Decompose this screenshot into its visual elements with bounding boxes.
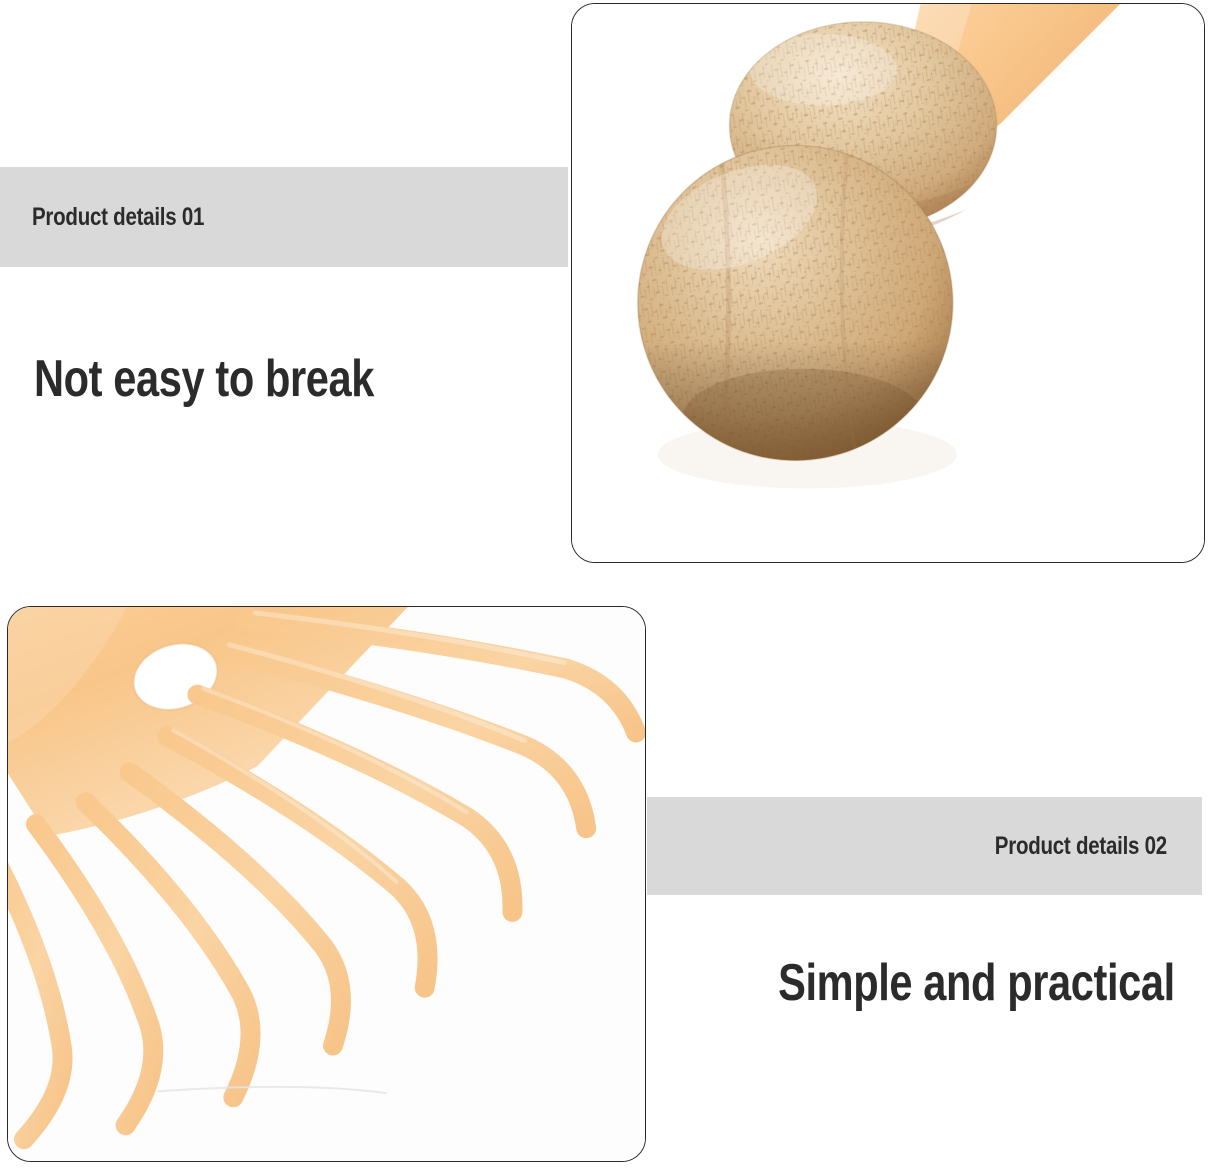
headline-simple-and-practical: Simple and practical [778,953,1175,1013]
product-photo-wooden-ball-head [571,3,1205,563]
product-detail-page: Product details 01 Not easy to break [0,0,1214,1171]
silicone-prongs-illustration [8,607,645,1161]
product-details-01-band: Product details 01 [0,167,568,267]
product-photo-silicone-prongs [7,606,646,1162]
product-details-02-band: Product details 02 [647,797,1202,895]
wooden-ball-illustration [572,4,1204,562]
headline-not-easy-to-break: Not easy to break [34,349,374,409]
product-details-02-label: Product details 02 [995,832,1167,861]
product-details-01-label: Product details 01 [32,203,204,232]
